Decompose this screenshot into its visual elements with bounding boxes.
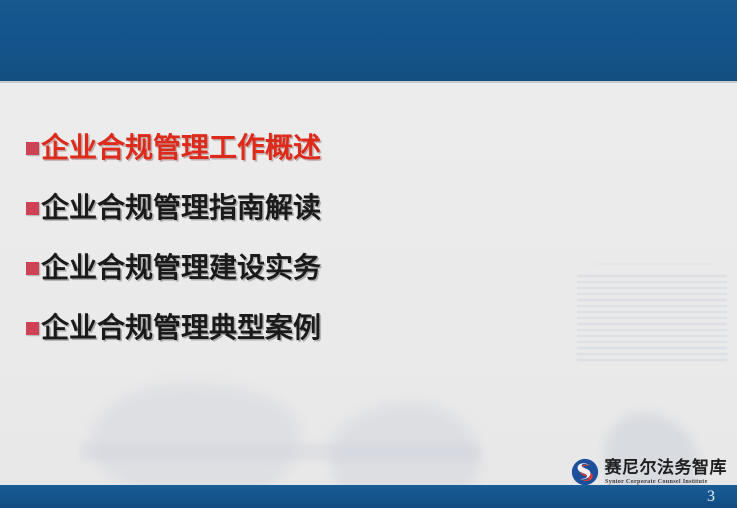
toc-item-1[interactable]: 企业合规管理工作概述 bbox=[26, 134, 321, 162]
slide-footer-band: 3 bbox=[0, 485, 737, 508]
brand-name-en: Synior Corporate Counsel Institute bbox=[605, 479, 708, 485]
watermark-shape-left bbox=[90, 383, 300, 485]
watermark-band bbox=[80, 443, 480, 461]
toc-item-label: 企业合规管理建设实务 bbox=[41, 254, 321, 282]
brand-name-cn: 赛尼尔法务智库 bbox=[605, 460, 728, 477]
toc-item-label: 企业合规管理指南解读 bbox=[41, 194, 321, 222]
watermark-document bbox=[595, 263, 715, 413]
bullet-square-icon bbox=[26, 322, 39, 335]
bullet-square-icon bbox=[26, 142, 39, 155]
company-emblem-icon bbox=[571, 458, 599, 486]
toc-item-2[interactable]: 企业合规管理指南解读 bbox=[26, 194, 321, 222]
watermark-text-lines bbox=[577, 275, 727, 365]
toc-item-label: 企业合规管理工作概述 bbox=[41, 134, 321, 162]
toc-item-label: 企业合规管理典型案例 bbox=[41, 314, 321, 342]
page-number: 3 bbox=[707, 486, 715, 507]
slide-header-divider bbox=[0, 81, 737, 83]
brand-logo: 赛尼尔法务智库 Synior Corporate Counsel Institu… bbox=[571, 458, 728, 486]
bullet-square-icon bbox=[26, 262, 39, 275]
bullet-square-icon bbox=[26, 202, 39, 215]
brand-logo-text: 赛尼尔法务智库 Synior Corporate Counsel Institu… bbox=[605, 460, 728, 485]
toc-item-3[interactable]: 企业合规管理建设实务 bbox=[26, 254, 321, 282]
watermark-shape-center bbox=[330, 403, 480, 485]
slide-header-band bbox=[0, 0, 737, 81]
presentation-slide: 目录 企业合规管理工作概述 企业合规管理指南解读 企业合规管理建设实务 企业合规… bbox=[0, 0, 737, 508]
toc-item-4[interactable]: 企业合规管理典型案例 bbox=[26, 314, 321, 342]
